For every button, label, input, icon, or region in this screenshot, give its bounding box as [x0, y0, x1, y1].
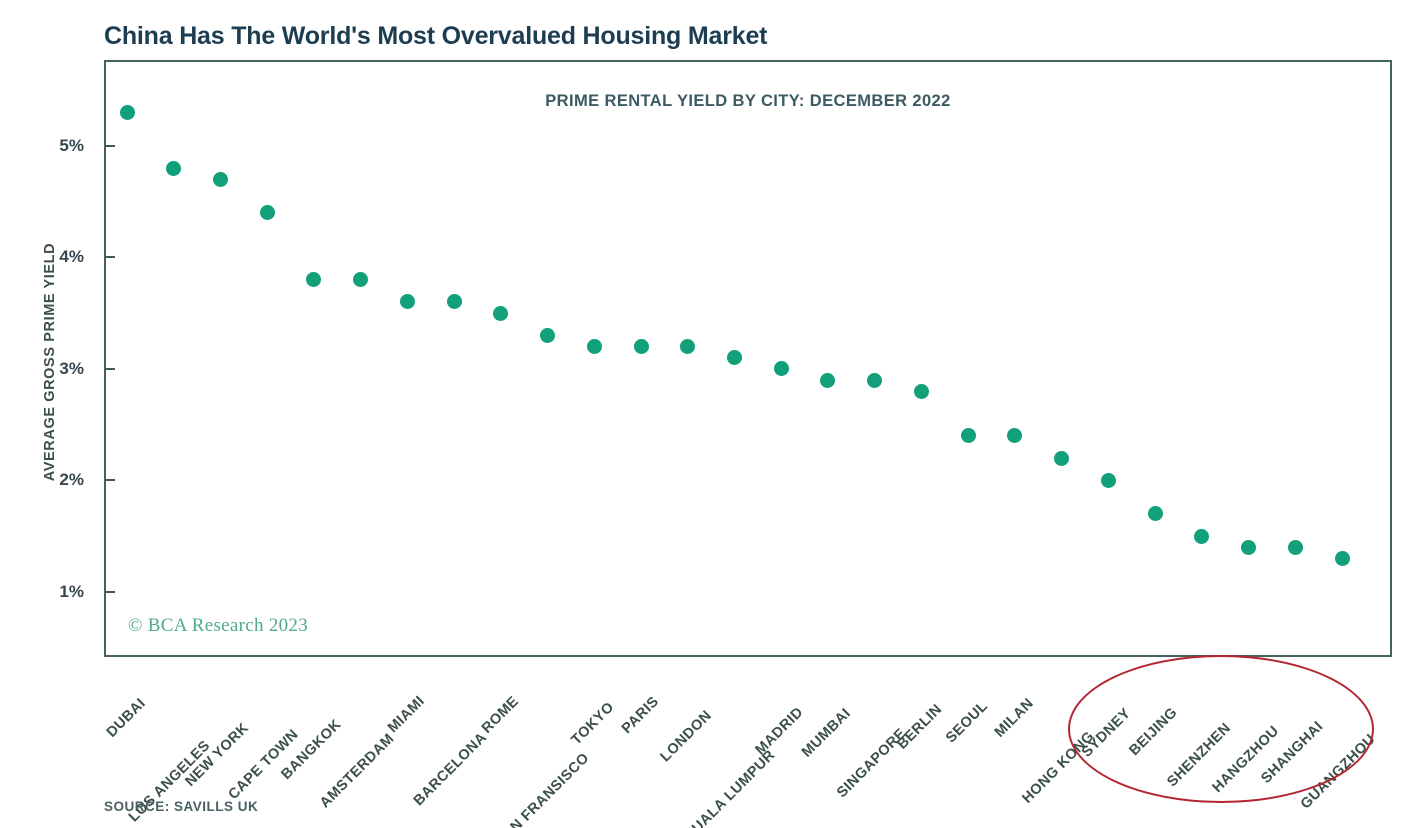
- data-point: [914, 384, 929, 399]
- data-point: [1148, 506, 1163, 521]
- data-point: [1007, 428, 1022, 443]
- x-tick-label: LONDON: [705, 663, 762, 720]
- data-point: [447, 294, 462, 309]
- chart-page: China Has The World's Most Overvalued Ho…: [0, 0, 1428, 828]
- data-point: [120, 105, 135, 120]
- data-point: [1335, 551, 1350, 566]
- y-tick-label: 4%: [24, 247, 84, 267]
- y-tick-label: 2%: [24, 470, 84, 490]
- y-tick-label: 5%: [24, 136, 84, 156]
- source-note: SOURCE: SAVILLS UK: [104, 799, 258, 814]
- data-point: [1054, 451, 1069, 466]
- y-tick-mark: [106, 256, 115, 258]
- watermark-credit: © BCA Research 2023: [128, 615, 308, 637]
- data-point: [493, 306, 508, 321]
- data-point: [213, 172, 228, 187]
- data-point: [867, 373, 882, 388]
- y-tick-mark: [106, 591, 115, 593]
- x-tick-label: DUBAI: [139, 663, 184, 708]
- x-tick-label: BEIJING: [1171, 663, 1225, 717]
- data-point: [540, 328, 555, 343]
- data-point: [961, 428, 976, 443]
- data-point: [353, 272, 368, 287]
- data-point: [166, 161, 181, 176]
- data-point: [820, 373, 835, 388]
- data-point: [260, 205, 275, 220]
- data-point: [727, 350, 742, 365]
- y-tick-label: 3%: [24, 359, 84, 379]
- data-point: [1101, 473, 1116, 488]
- x-tick-label: MILAN: [1027, 663, 1072, 708]
- data-point: [680, 339, 695, 354]
- data-point: [1288, 540, 1303, 555]
- chart-subtitle: PRIME RENTAL YIELD BY CITY: DECEMBER 202…: [106, 92, 1390, 111]
- x-axis-labels: DUBAILOS ANGELESNEW YORKCAPE TOWNBANGKOK…: [104, 659, 1392, 789]
- data-point: [634, 339, 649, 354]
- y-tick-mark: [106, 368, 115, 370]
- data-point: [774, 361, 789, 376]
- data-point: [1194, 529, 1209, 544]
- plot-area: PRIME RENTAL YIELD BY CITY: DECEMBER 202…: [104, 60, 1392, 657]
- y-tick-mark: [106, 479, 115, 481]
- data-point: [587, 339, 602, 354]
- data-point: [306, 272, 321, 287]
- data-point: [1241, 540, 1256, 555]
- y-tick-mark: [106, 145, 115, 147]
- data-point: [400, 294, 415, 309]
- y-tick-label: 1%: [24, 582, 84, 602]
- page-title: China Has The World's Most Overvalued Ho…: [104, 22, 767, 51]
